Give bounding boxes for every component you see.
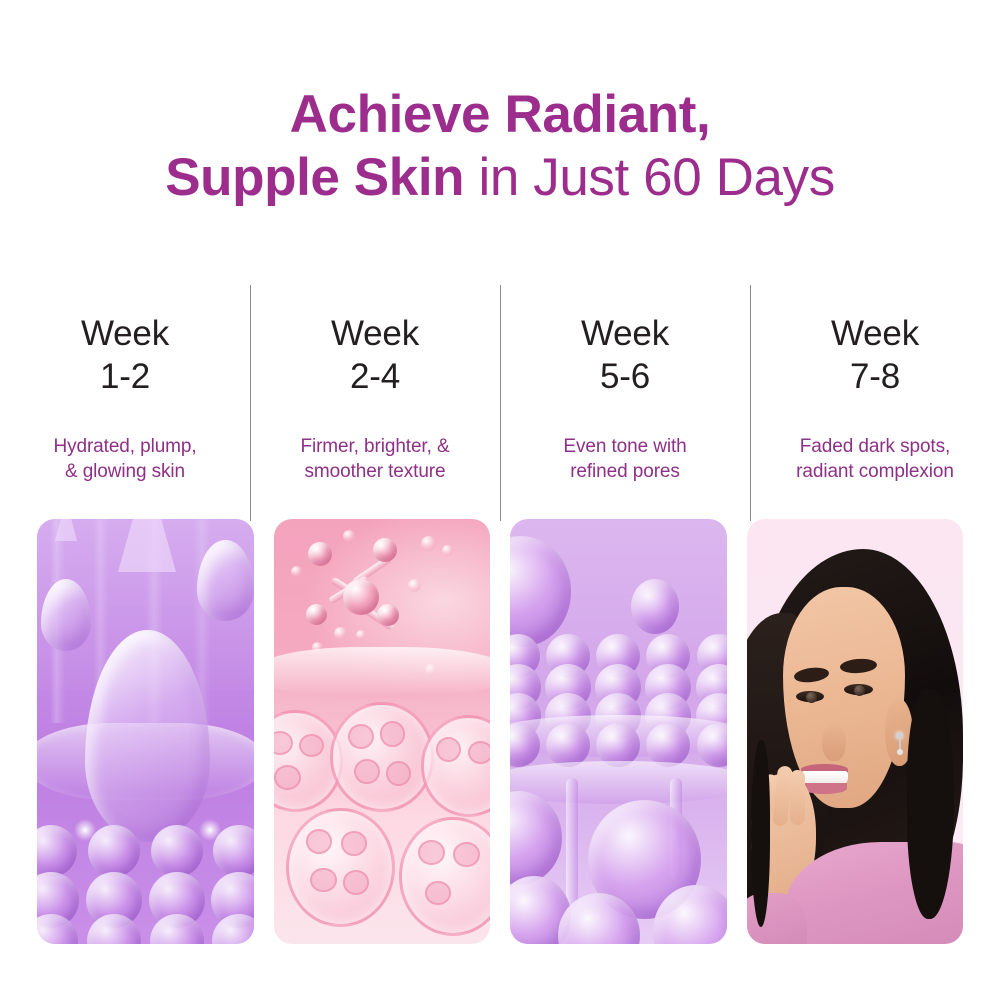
week-heading-2: Week 2-4: [331, 313, 419, 398]
cell-pore: [310, 868, 337, 893]
glass-stem: [566, 778, 578, 906]
iris-right: [854, 685, 865, 696]
cell-pore: [436, 737, 461, 762]
week-heading-1: Week 1-2: [81, 313, 169, 398]
week-label-3: Week: [581, 314, 669, 353]
cell-pore: [380, 721, 405, 746]
hair-strand: [751, 740, 770, 927]
woman-portrait: [747, 519, 964, 944]
timeline-column-week-7-8: Week 7-8 Faded dark spots, radiant compl…: [750, 285, 1000, 525]
week-description-3-line-2: refined pores: [563, 459, 686, 484]
week-label-4: Week: [831, 314, 919, 353]
image-card-week-7-8: [747, 519, 964, 944]
cell-pore: [343, 870, 370, 895]
hair-strand: [907, 689, 955, 919]
week-description-4-line-1: Faded dark spots,: [796, 434, 954, 459]
headline-bold-part-1: Achieve Radiant,: [290, 85, 711, 144]
timeline-column-week-1-2: Week 1-2 Hydrated, plump, & glowing skin: [0, 285, 250, 525]
serum-surface-ridge: [274, 647, 491, 698]
molecule-node-center: [343, 579, 379, 615]
cell-pore: [354, 759, 379, 784]
cell-pore: [453, 842, 480, 867]
bubble: [88, 825, 140, 877]
bottom-orb: [510, 791, 562, 885]
headline-bold-part-2: Supple Skin: [165, 148, 464, 207]
infographic-page: Achieve Radiant, Supple Skin in Just 60 …: [0, 0, 1000, 1000]
cell-pore: [306, 829, 333, 854]
orb: [546, 723, 590, 767]
fizz-bubble: [408, 579, 421, 592]
droplet-tip: [118, 519, 176, 572]
week-description-1: Hydrated, plump, & glowing skin: [53, 434, 196, 484]
cell-sphere: [286, 808, 394, 927]
cell-pore: [425, 881, 452, 906]
week-description-2-line-1: Firmer, brighter, &: [300, 434, 449, 459]
cell-sphere: [399, 817, 490, 936]
week-description-1-line-2: & glowing skin: [53, 459, 196, 484]
week-label-1: Week: [81, 314, 169, 353]
finger: [790, 770, 805, 825]
glass-shelf-lower: [510, 761, 727, 804]
bubble: [150, 914, 204, 944]
fizz-bubble: [421, 536, 436, 551]
timeline-columns: Week 1-2 Hydrated, plump, & glowing skin…: [0, 285, 1000, 525]
week-label-2: Week: [331, 314, 419, 353]
small-orb: [631, 579, 679, 634]
week-range-3: 5-6: [581, 356, 669, 399]
cell-pore: [299, 734, 324, 757]
week-range-1: 1-2: [81, 356, 169, 399]
cell-sphere: [421, 715, 490, 817]
image-card-week-2-4: [274, 519, 491, 944]
week-description-4: Faded dark spots, radiant complexion: [796, 434, 954, 484]
headline-line-1: Achieve Radiant,: [0, 84, 1000, 147]
week-description-2: Firmer, brighter, & smoother texture: [300, 434, 449, 484]
fizz-bubble: [343, 530, 355, 542]
cell-pore: [341, 831, 368, 856]
molecule-node: [306, 604, 327, 625]
bubble: [212, 914, 253, 944]
cell-pore: [386, 761, 411, 786]
bubble: [213, 825, 253, 877]
week-heading-4: Week 7-8: [831, 313, 919, 398]
week-description-3-line-1: Even tone with: [563, 434, 686, 459]
week-range-2: 2-4: [331, 356, 419, 399]
timeline-column-week-5-6: Week 5-6 Even tone with refined pores: [500, 285, 750, 525]
cell-pore: [468, 741, 490, 764]
timeline-column-week-2-4: Week 2-4 Firmer, brighter, & smoother te…: [250, 285, 500, 525]
cell-pore: [348, 724, 373, 749]
headline-light-part: in Just 60 Days: [464, 148, 835, 207]
fizz-bubble: [291, 566, 302, 577]
page-title: Achieve Radiant, Supple Skin in Just 60 …: [0, 84, 1000, 209]
week-description-4-line-2: radiant complexion: [796, 459, 954, 484]
earring-drop-icon: [897, 749, 903, 755]
bubble-row-3: [37, 914, 254, 944]
headline-line-2: Supple Skin in Just 60 Days: [0, 147, 1000, 210]
bubble: [87, 914, 141, 944]
image-card-week-1-2: [37, 519, 254, 944]
cell-pore: [274, 731, 294, 756]
image-card-row: [0, 519, 1000, 944]
fizz-bubble: [356, 630, 366, 640]
droplet-tip: [55, 519, 77, 541]
bubble: [37, 825, 77, 877]
bubble: [151, 825, 203, 877]
fizz-bubble: [442, 545, 453, 556]
week-range-4: 7-8: [831, 356, 919, 399]
large-orb: [510, 536, 571, 647]
week-heading-3: Week 5-6: [581, 313, 669, 398]
week-description-1-line-1: Hydrated, plump,: [53, 434, 196, 459]
bubble: [37, 914, 78, 944]
orb: [510, 723, 540, 767]
bubble-row-1: [37, 825, 254, 877]
orb: [697, 723, 727, 767]
week-description-2-line-2: smoother texture: [300, 459, 449, 484]
cell-sphere: [330, 702, 434, 813]
cell-pore: [418, 840, 445, 865]
nose: [822, 723, 846, 761]
earring-stud-icon: [896, 732, 903, 739]
orb: [646, 723, 690, 767]
cell-pore: [274, 765, 301, 790]
image-card-week-5-6: [510, 519, 727, 944]
week-description-3: Even tone with refined pores: [563, 434, 686, 484]
